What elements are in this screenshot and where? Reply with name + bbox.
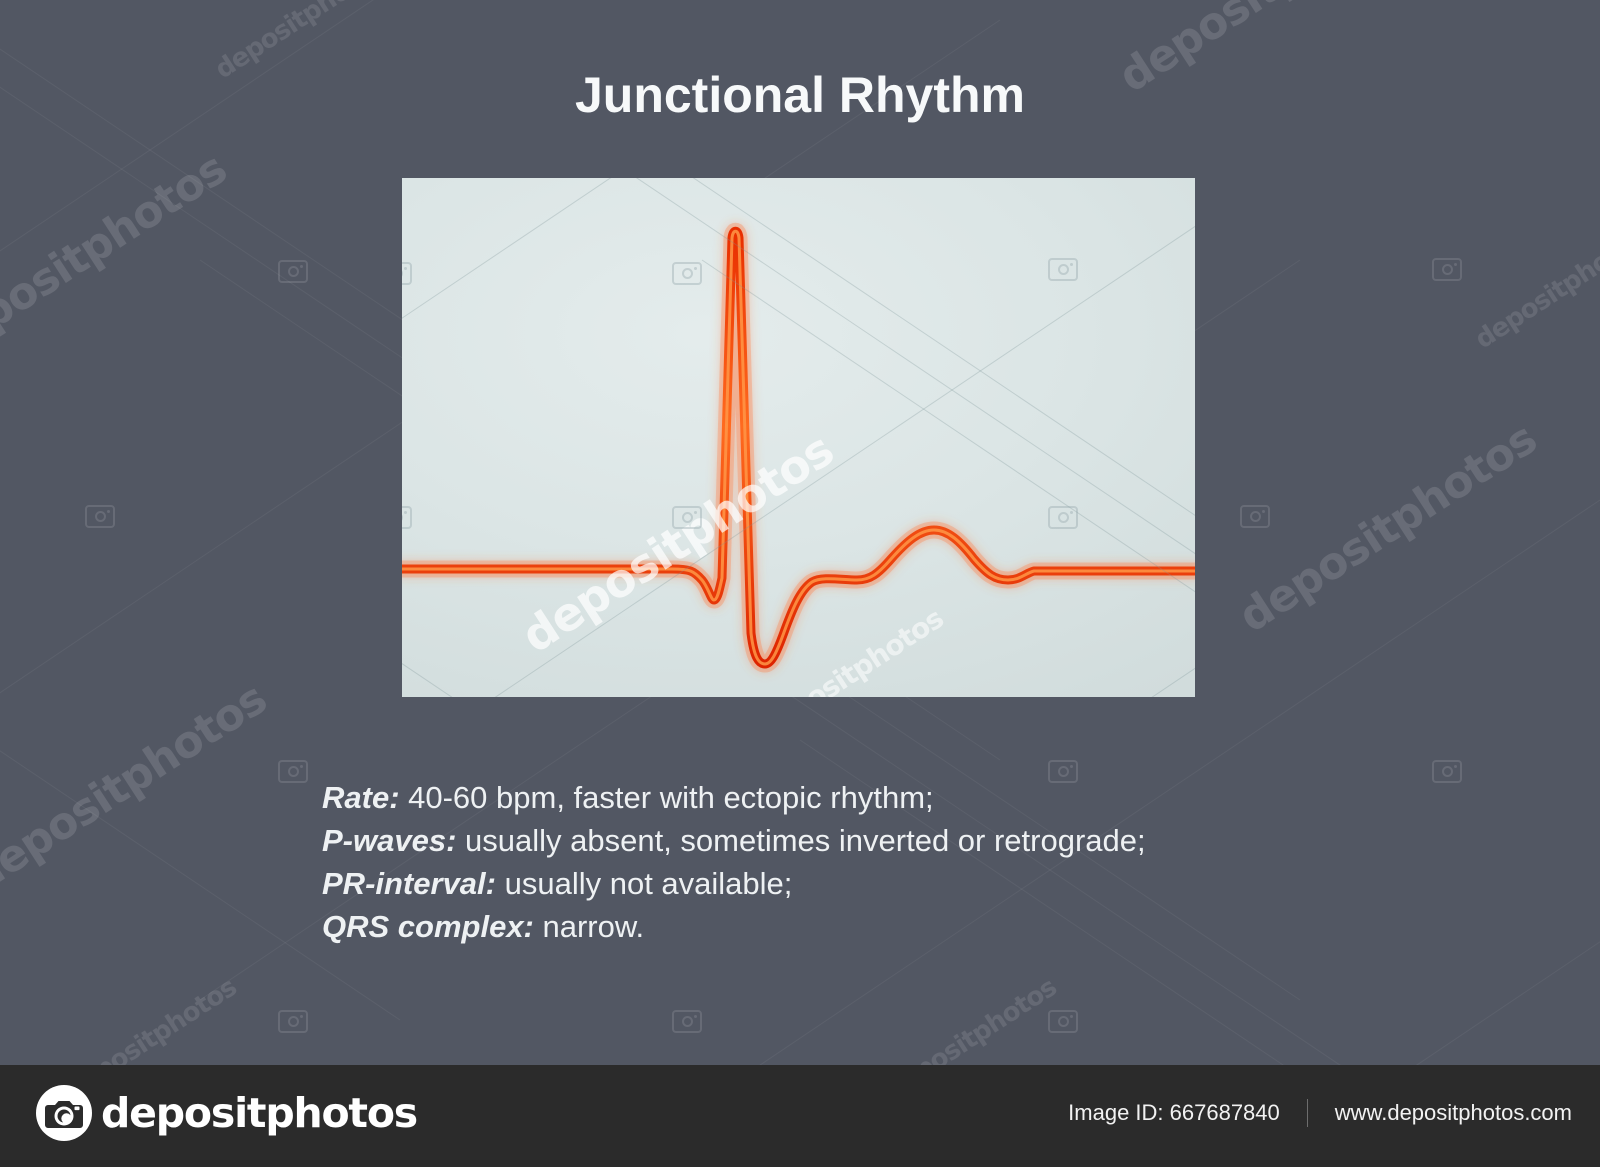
camera-icon (1432, 258, 1462, 281)
criteria-line-qrs-complex: QRS complex: narrow. (322, 905, 1322, 948)
website-link[interactable]: www.depositphotos.com (1335, 1100, 1572, 1126)
criteria-value: 40-60 bpm, faster with ectopic rhythm; (400, 780, 934, 815)
image-id-label: Image ID: 667687840 (1068, 1100, 1280, 1126)
criteria-value: usually absent, sometimes inverted or re… (456, 823, 1145, 858)
camera-icon (85, 505, 115, 528)
camera-icon (278, 760, 308, 783)
camera-icon (672, 1010, 702, 1033)
criteria-label: Rate: (322, 780, 400, 815)
camera-icon (278, 1010, 308, 1033)
rhythm-criteria-list: Rate: 40-60 bpm, faster with ectopic rhy… (322, 776, 1322, 948)
camera-icon (278, 260, 308, 283)
criteria-value: narrow. (534, 909, 644, 944)
criteria-line-p-waves: P-waves: usually absent, sometimes inver… (322, 819, 1322, 862)
watermark-word: depositphotos (0, 673, 275, 903)
camera-icon (1048, 1010, 1078, 1033)
watermark-word: depositphotos (0, 143, 235, 373)
ecg-trace (402, 178, 1195, 697)
camera-icon (1432, 760, 1462, 783)
footer-meta: Image ID: 667687840 www.depositphotos.co… (1068, 1099, 1572, 1127)
criteria-line-rate: Rate: 40-60 bpm, faster with ectopic rhy… (322, 776, 1322, 819)
depositphotos-logo[interactable]: depositphotos (36, 1085, 417, 1141)
footer-divider (1307, 1099, 1308, 1127)
criteria-value: usually not available; (496, 866, 792, 901)
camera-logo-icon (36, 1085, 92, 1141)
criteria-label: QRS complex: (322, 909, 534, 944)
criteria-label: P-waves: (322, 823, 456, 858)
camera-icon (1240, 505, 1270, 528)
watermark-word: depositphotos (1470, 223, 1600, 356)
criteria-label: PR-interval: (322, 866, 496, 901)
criteria-line-pr-interval: PR-interval: usually not available; (322, 862, 1322, 905)
ecg-waveform-panel: depositphotos depositphotos depositphoto… (402, 178, 1195, 697)
illustration-page: depositphotos depositphotos depositphoto… (0, 0, 1600, 1167)
logo-wordmark: depositphotos (101, 1089, 417, 1137)
page-title: Junctional Rhythm (0, 66, 1600, 124)
watermark-word: depositphotos (1230, 413, 1545, 643)
